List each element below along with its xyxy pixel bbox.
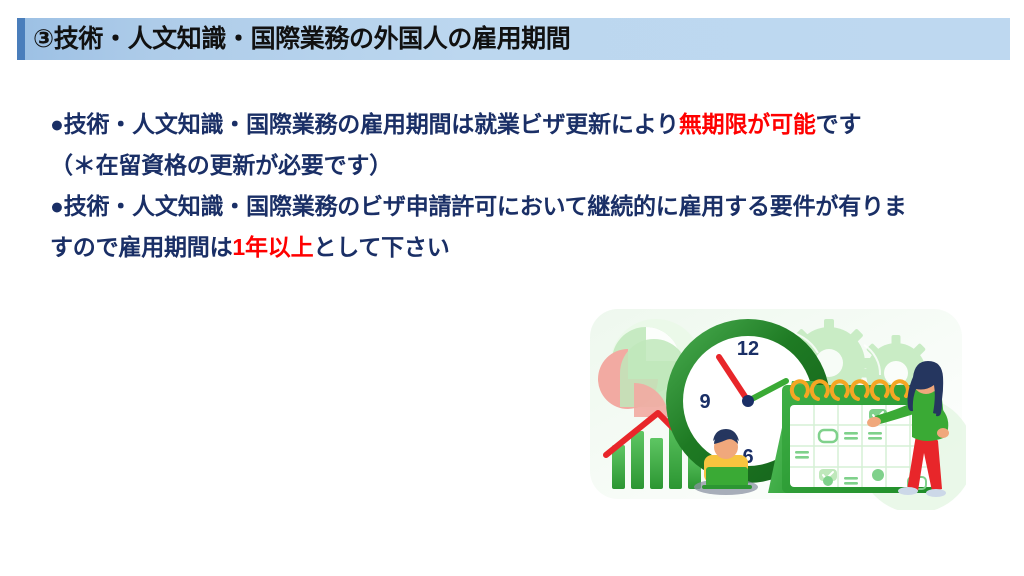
body-line-2-seg-1: （＊在留資格の更新が必要です） [50,152,392,178]
body-line-1-seg-3: です [816,111,862,137]
slide-canvas: ③技術・人文知識・国際業務の外国人の雇用期間 ●技術・人文知識・国際業務の雇用期… [0,0,1024,576]
clock-number-12: 12 [737,338,759,360]
title-accent-bar [17,18,25,60]
body-line-4: すので雇用期間は1年以上として下さい [50,227,970,268]
body-copy: ●技術・人文知識・国際業務の雇用期間は就業ビザ更新により無期限が可能です （＊在… [50,104,970,268]
body-line-4-seg-1: すので雇用期間は [50,234,232,260]
body-line-4-seg-3: として下さい [313,234,449,260]
body-line-4-highlight: 1年以上 [232,234,313,260]
body-line-1-highlight: 無期限が可能 [679,111,816,137]
page-title: ③技術・人文知識・国際業務の外国人の雇用期間 [33,18,570,60]
body-line-1: ●技術・人文知識・国際業務の雇用期間は就業ビザ更新により無期限が可能です [50,104,970,145]
body-line-3-seg-1: ●技術・人文知識・国際業務のビザ申請許可において継続的に雇用する要件が有りま [50,193,907,219]
clock-center-pin [742,395,754,407]
body-line-3: ●技術・人文知識・国際業務のビザ申請許可において継続的に雇用する要件が有りま [50,186,970,227]
body-line-2: （＊在留資格の更新が必要です） [50,145,970,186]
clock-number-9: 9 [699,391,710,413]
time-management-illustration: 12 3 6 9 [586,305,966,510]
title-banner: ③技術・人文知識・国際業務の外国人の雇用期間 [17,18,1010,60]
body-line-1-seg-1: ●技術・人文知識・国際業務の雇用期間は就業ビザ更新により [50,111,679,137]
